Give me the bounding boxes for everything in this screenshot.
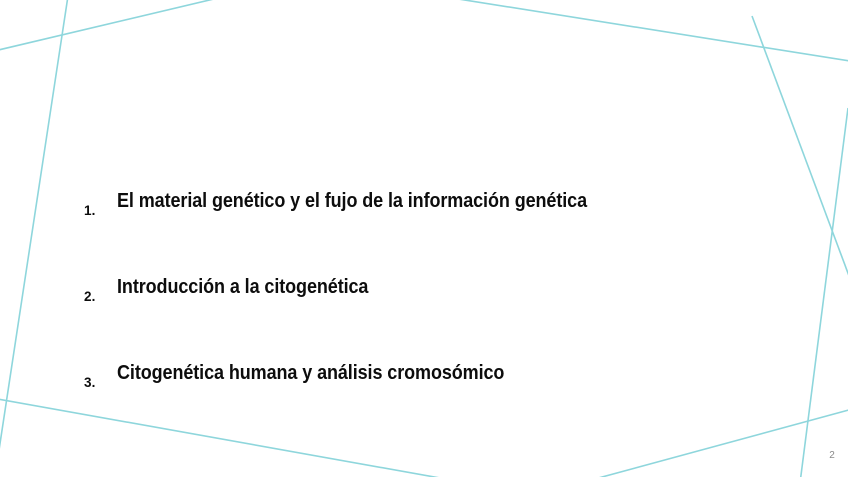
agenda-list: 1. El material genético y el fujo de la … — [0, 190, 848, 448]
agenda-item-1-label: El material genético y el fujo de la inf… — [117, 190, 587, 213]
agenda-item-2-label: Introducción a la citogenética — [117, 276, 368, 299]
agenda-item-3-label: Citogenética humana y análisis cromosómi… — [117, 362, 504, 385]
agenda-item-3-marker: 3. — [84, 375, 95, 390]
presentation-slide: 1. El material genético y el fujo de la … — [0, 0, 848, 477]
decor-line-top-left-horizontal — [0, 0, 218, 52]
agenda-item-3[interactable]: 3. Citogenética humana y análisis cromos… — [0, 362, 848, 448]
page-number: 2 — [824, 450, 840, 461]
agenda-item-1-marker: 1. — [84, 203, 95, 218]
agenda-item-2[interactable]: 2. Introducción a la citogenética — [0, 276, 848, 362]
agenda-item-1[interactable]: 1. El material genético y el fujo de la … — [0, 190, 848, 276]
agenda-item-2-marker: 2. — [84, 289, 95, 304]
decor-line-top-right-horizontal — [452, 0, 848, 62]
